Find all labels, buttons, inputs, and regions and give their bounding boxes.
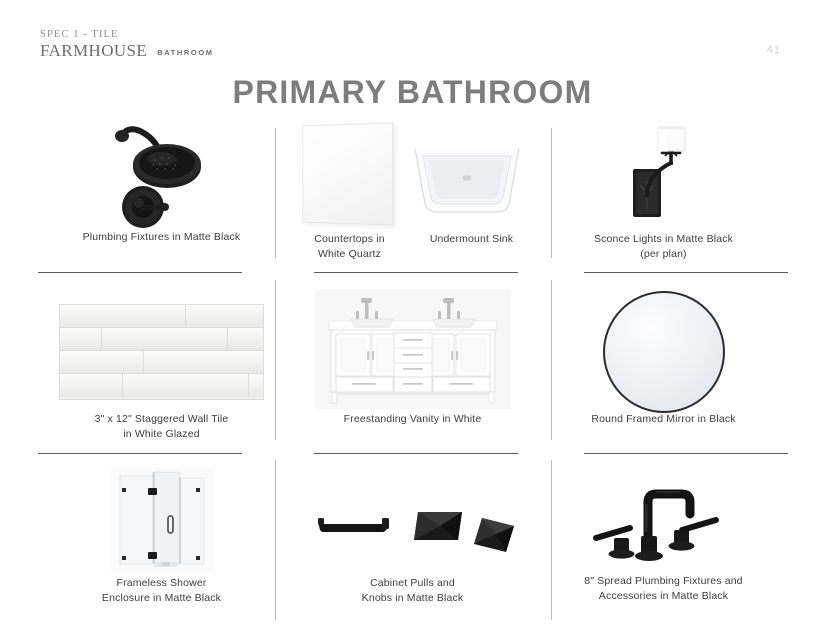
collection-name: FARMHOUSE: [40, 41, 147, 60]
sheet-header: SPEC 1 - TILE FARMHOUSE BATHROOM: [40, 28, 214, 60]
undermount-sink-image: [409, 140, 525, 220]
product-caption: Frameless Shower Enclosure in Matte Blac…: [102, 576, 221, 606]
shower-enclosure-image: [110, 464, 214, 576]
round-mirror-image: [603, 292, 725, 412]
page-title: PRIMARY BATHROOM: [0, 74, 825, 111]
product-cell-vanity: Freestanding Vanity in White: [287, 272, 538, 448]
shower-fixture-image: [87, 120, 237, 230]
spec-label: SPEC 1 - TILE: [40, 28, 214, 41]
product-cell-shower-enclosure: Frameless Shower Enclosure in Matte Blac…: [36, 448, 287, 620]
spec-sheet-page: SPEC 1 - TILE FARMHOUSE BATHROOM 41 PRIM…: [0, 0, 825, 638]
room-name: BATHROOM: [157, 48, 213, 60]
product-caption: Countertops in White Quartz: [302, 232, 398, 262]
freestanding-vanity-image: [315, 286, 511, 412]
product-cell-plumbing-fixtures: Plumbing Fixtures in Matte Black: [36, 120, 287, 272]
product-cell-sconce-lights: Sconce Lights in Matte Black (per plan): [538, 120, 789, 272]
product-caption: Freestanding Vanity in White: [344, 412, 482, 427]
product-caption: Sconce Lights in Matte Black (per plan): [594, 232, 733, 262]
wall-sconce-image: [627, 120, 701, 232]
widespread-faucet-image: [586, 474, 742, 574]
product-cell-mirror: Round Framed Mirror in Black: [538, 272, 789, 448]
product-caption: 3" x 12" Staggered Wall Tile in White Gl…: [95, 412, 229, 442]
product-cell-spread-faucet: 8" Spread Plumbing Fixtures and Accessor…: [538, 448, 789, 620]
product-cell-cabinet-hardware: Cabinet Pulls and Knobs in Matte Black: [287, 448, 538, 620]
quartz-slab-image: [302, 123, 393, 226]
product-cell-wall-tile: 3" x 12" Staggered Wall Tile in White Gl…: [36, 272, 287, 448]
product-caption: Cabinet Pulls and Knobs in Matte Black: [362, 576, 464, 606]
product-caption: Round Framed Mirror in Black: [591, 412, 735, 427]
product-cell-countertops-and-sink: Countertops in White Quartz Undermount S…: [287, 120, 538, 272]
page-number: 41: [767, 44, 781, 56]
product-caption: 8" Spread Plumbing Fixtures and Accessor…: [584, 574, 742, 604]
product-caption: Undermount Sink: [420, 232, 524, 262]
product-caption: Plumbing Fixtures in Matte Black: [83, 230, 241, 245]
product-grid: Plumbing Fixtures in Matte Black: [36, 120, 789, 620]
wall-tile-swatch-image: [59, 292, 264, 412]
cabinet-pulls-knobs-image: [310, 488, 516, 576]
